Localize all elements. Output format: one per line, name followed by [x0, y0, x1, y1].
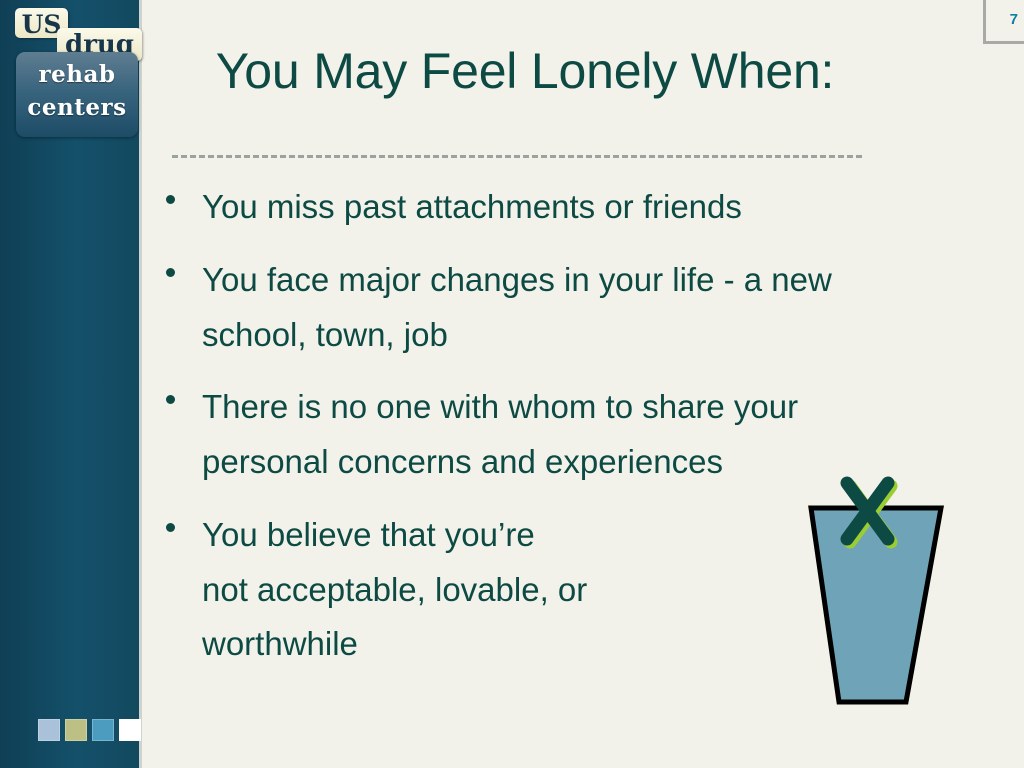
logo-word-rehab: rehab: [16, 63, 138, 86]
logo-panel: rehab centers: [16, 52, 138, 137]
list-item-text: You miss past attachments or friends: [202, 180, 950, 235]
page-number-label: 7: [986, 11, 1018, 28]
swatch-blue: [92, 719, 114, 741]
brand-logo[interactable]: US drug rehab centers: [10, 6, 140, 138]
list-item-text: You face major changes in your life - a …: [202, 253, 950, 363]
page-title: You May Feel Lonely When:: [160, 44, 890, 99]
swatch-light-blue: [38, 719, 60, 741]
bullet-dot-icon: [166, 523, 175, 532]
cup-with-x-svg: [795, 470, 970, 720]
color-swatch-strip: [38, 719, 141, 741]
cup-with-x-icon: [795, 470, 970, 720]
title-divider: [172, 155, 862, 158]
logo-word-centers: centers: [16, 96, 138, 119]
swatch-white: [119, 719, 141, 741]
page-number-badge: 7: [983, 0, 1024, 44]
slide-canvas: US drug rehab centers 7 You May Feel Lon…: [0, 0, 1024, 768]
list-item: You face major changes in your life - a …: [160, 253, 950, 363]
sidebar-panel: US drug rehab centers: [0, 0, 142, 768]
cup-shape: [811, 508, 941, 702]
swatch-khaki: [65, 719, 87, 741]
bullet-dot-icon: [166, 395, 175, 404]
bullet-dot-icon: [166, 268, 175, 277]
bullet-dot-icon: [166, 195, 175, 204]
list-item: You miss past attachments or friends: [160, 180, 950, 235]
